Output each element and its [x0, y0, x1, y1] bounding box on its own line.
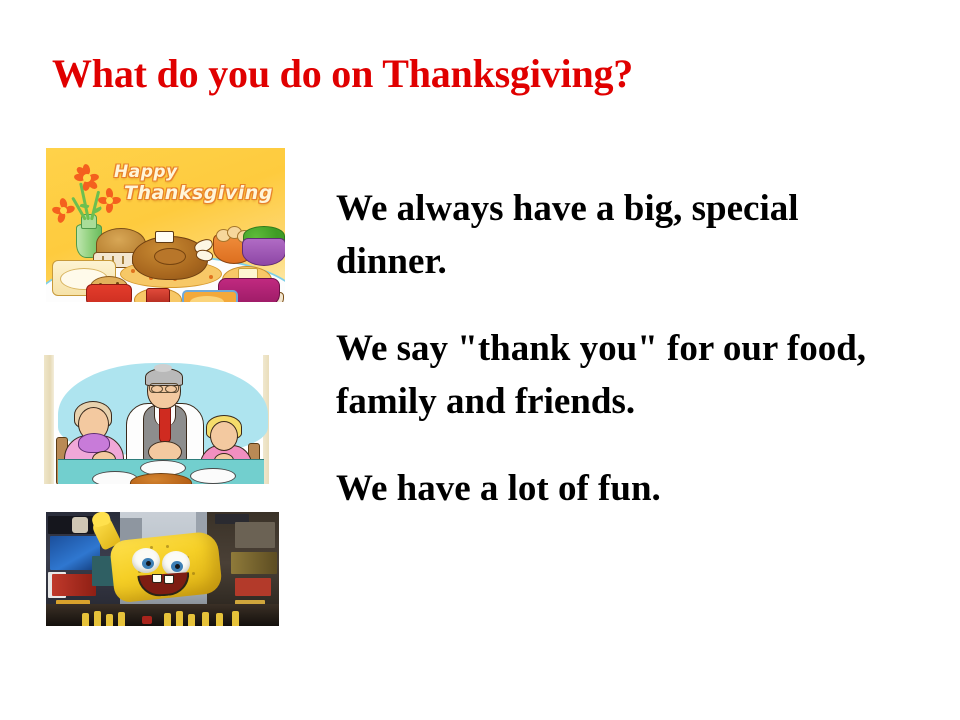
greens-bowl-icon [242, 238, 285, 266]
body-text-column: We always have a big, special dinner. We… [336, 182, 896, 462]
turkey-tag [155, 231, 174, 243]
balloon-tooth [152, 574, 162, 583]
glasses-icon [149, 383, 179, 393]
casserole-filling [190, 296, 224, 302]
necktie-icon [159, 407, 171, 443]
father-hair-top [154, 364, 172, 372]
child-head [210, 421, 238, 451]
balloon-pupil [146, 561, 151, 566]
parade-crowd [46, 604, 279, 626]
flower-icon [74, 166, 100, 190]
body-paragraph-2: We say "thank you" for our food, family … [336, 322, 896, 428]
flower-icon [52, 200, 76, 222]
feast-caption-line-1: Happy [114, 164, 283, 182]
turkey-highlight [154, 248, 186, 265]
cookie-bowl-icon [86, 284, 132, 302]
body-paragraph-1: We always have a big, special dinner. [336, 182, 896, 288]
parade-balloon-image[interactable] [46, 512, 279, 626]
feast-caption-line-2: Thanksgiving [124, 184, 283, 204]
balloon-pupil [175, 564, 180, 569]
body-paragraph-3: We have a lot of fun. [336, 462, 661, 515]
slide: What do you do on Thanksgiving? [0, 0, 960, 720]
page-title: What do you do on Thanksgiving? [52, 52, 633, 96]
thanksgiving-feast-image[interactable]: Happy Thanksgiving [46, 148, 285, 302]
mother-scarf [78, 433, 110, 453]
family-thanks-image[interactable] [44, 355, 283, 484]
plate-icon [190, 468, 236, 484]
feast-caption: Happy Thanksgiving [108, 164, 283, 204]
balloon-tooth [164, 575, 174, 584]
left-border-strip [44, 355, 54, 484]
cranberry-sauce-icon [146, 288, 170, 302]
